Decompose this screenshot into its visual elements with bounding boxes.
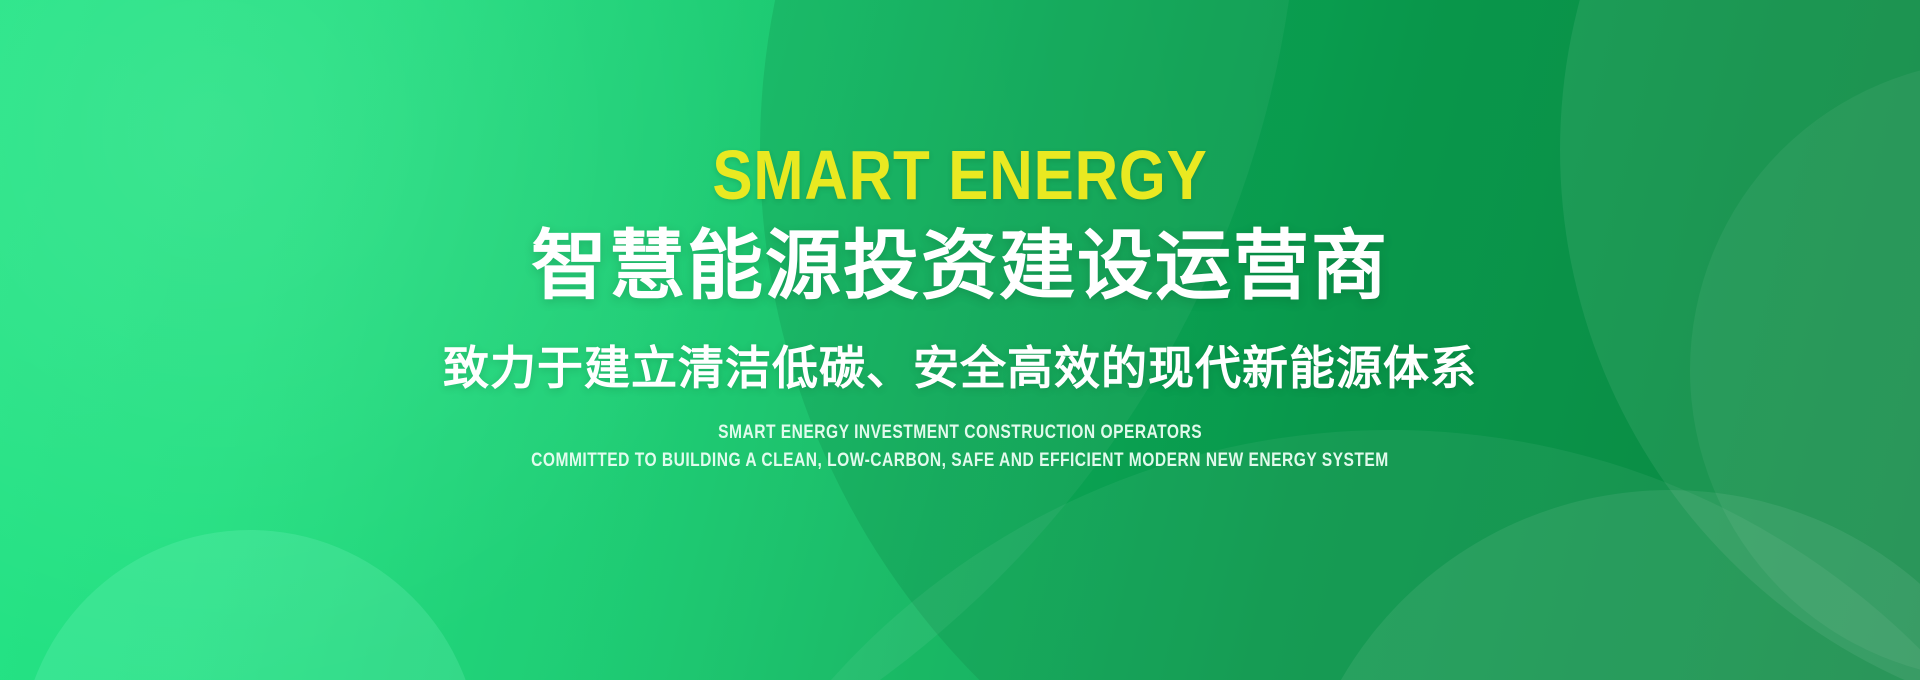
headline-english: SMART ENERGY bbox=[712, 140, 1207, 210]
banner-content: SMART ENERGY 智慧能源投资建设运营商 致力于建立清洁低碳、安全高效的… bbox=[0, 0, 1920, 680]
tagline-english-line-2: COMMITTED TO BUILDING A CLEAN, LOW-CARBO… bbox=[531, 447, 1389, 475]
subheadline-chinese: 致力于建立清洁低碳、安全高效的现代新能源体系 bbox=[443, 343, 1477, 394]
headline-chinese: 智慧能源投资建设运营商 bbox=[531, 226, 1389, 307]
hero-banner: SMART ENERGY 智慧能源投资建设运营商 致力于建立清洁低碳、安全高效的… bbox=[0, 0, 1920, 680]
tagline-english-line-1: SMART ENERGY INVESTMENT CONSTRUCTION OPE… bbox=[718, 419, 1202, 447]
